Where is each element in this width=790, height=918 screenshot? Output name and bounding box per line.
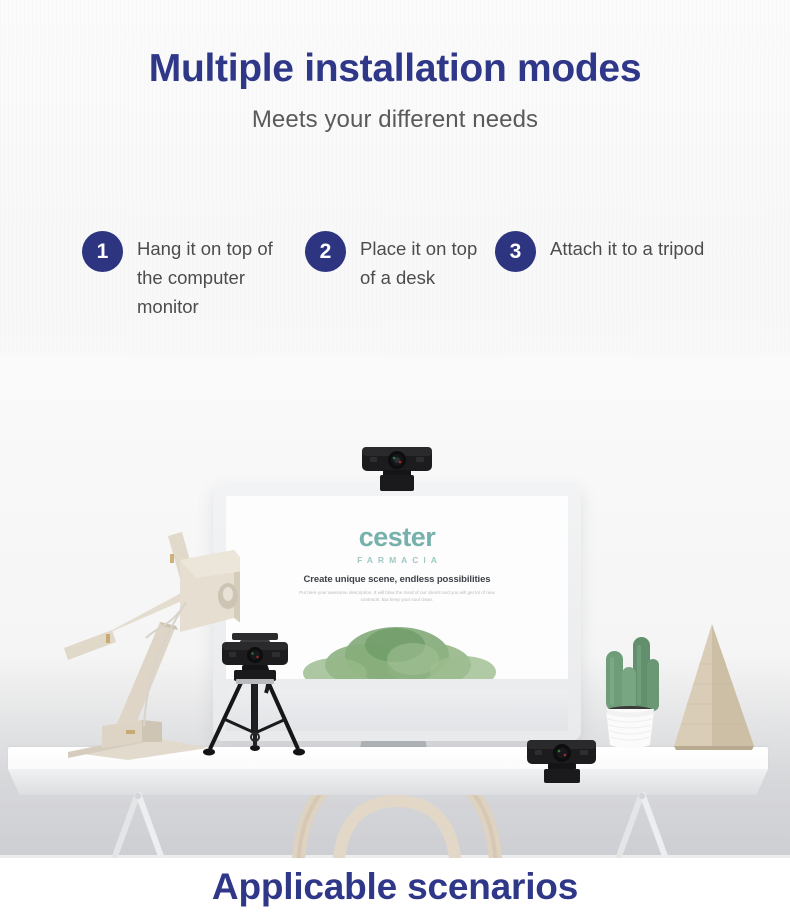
screen-logo-main: cester: [226, 524, 568, 551]
mode-number-badge-2: 2: [305, 231, 346, 272]
webcam-on-tripod: [220, 640, 290, 686]
webcam-on-desk: [524, 737, 600, 787]
screen-body-text: Put here your awesome description. It wi…: [297, 589, 497, 603]
mode-number-badge-1: 1: [82, 231, 123, 272]
mode-label-1: Hang it on top of the computer monitor: [137, 230, 297, 321]
screen-logo-sub: FARMACIA: [226, 555, 568, 565]
page-subtitle: Meets your different needs: [0, 106, 790, 134]
potted-cactus: [592, 615, 668, 751]
screen-headline: Create unique scene, endless possibiliti…: [226, 574, 568, 585]
footer-title: Applicable scenarios: [0, 866, 790, 908]
installation-mode-item-2: 2 Place it on top of a desk: [305, 230, 485, 292]
webcam-on-monitor: [358, 443, 436, 495]
mode-label-2: Place it on top of a desk: [360, 230, 485, 292]
product-scene-photo: cester FARMACIA Create unique scene, end…: [0, 355, 790, 858]
desk-leg-right: [612, 791, 674, 858]
mode-number-badge-3: 3: [495, 231, 536, 272]
screen-logo: cester FARMACIA: [226, 524, 568, 565]
installation-modes-list: 1 Hang it on top of the computer monitor…: [82, 230, 772, 340]
installation-mode-item-3: 3 Attach it to a tripod: [495, 230, 765, 272]
desk-leg-left: [108, 791, 170, 858]
installation-mode-item-1: 1 Hang it on top of the computer monitor: [82, 230, 297, 321]
mode-label-3: Attach it to a tripod: [550, 230, 704, 263]
wooden-pyramid-ornament: [666, 620, 762, 752]
page-title: Multiple installation modes: [0, 47, 790, 91]
product-detail-page: Multiple installation modes Meets your d…: [0, 0, 790, 918]
screen-tree-image: [287, 615, 507, 679]
